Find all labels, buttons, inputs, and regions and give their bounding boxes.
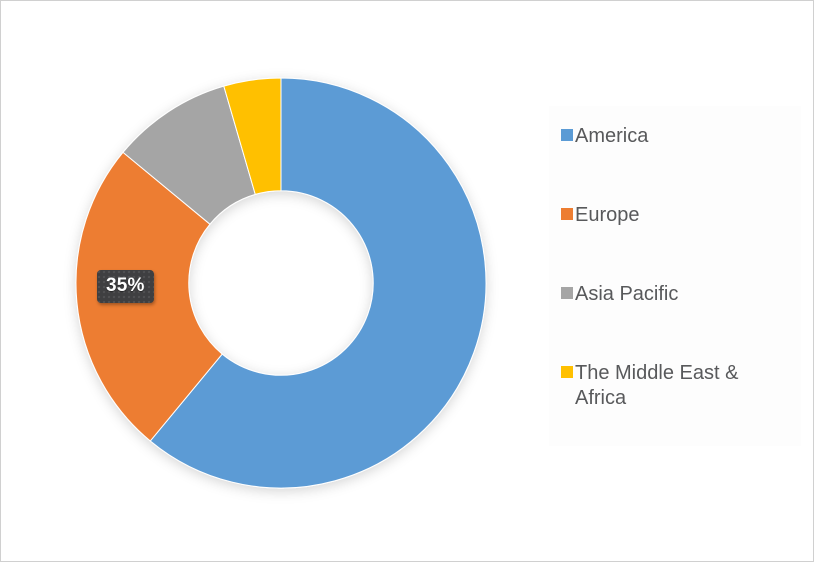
legend-item-europe[interactable]: Europe [561,203,795,228]
legend-item-america[interactable]: America [561,124,795,149]
legend-label: America [575,124,648,149]
legend-swatch-icon [561,208,573,220]
legend-label: The Middle East & Africa [575,361,790,411]
legend-swatch-icon [561,129,573,141]
data-label-europe: 35% [97,270,154,303]
legend-item-asia-pacific[interactable]: Asia Pacific [561,282,795,307]
legend-item-middle-east-africa[interactable]: The Middle East & Africa [561,361,795,411]
legend-swatch-icon [561,287,573,299]
chart-legend: America Europe Asia Pacific The Middle E… [549,106,801,446]
chart-screenshot: 35% America Europe Asia Pacific The Midd… [0,0,814,562]
legend-label: Europe [575,203,640,228]
chart-plot-area: 35% [11,13,531,551]
legend-label: Asia Pacific [575,282,678,307]
legend-swatch-icon [561,366,573,378]
